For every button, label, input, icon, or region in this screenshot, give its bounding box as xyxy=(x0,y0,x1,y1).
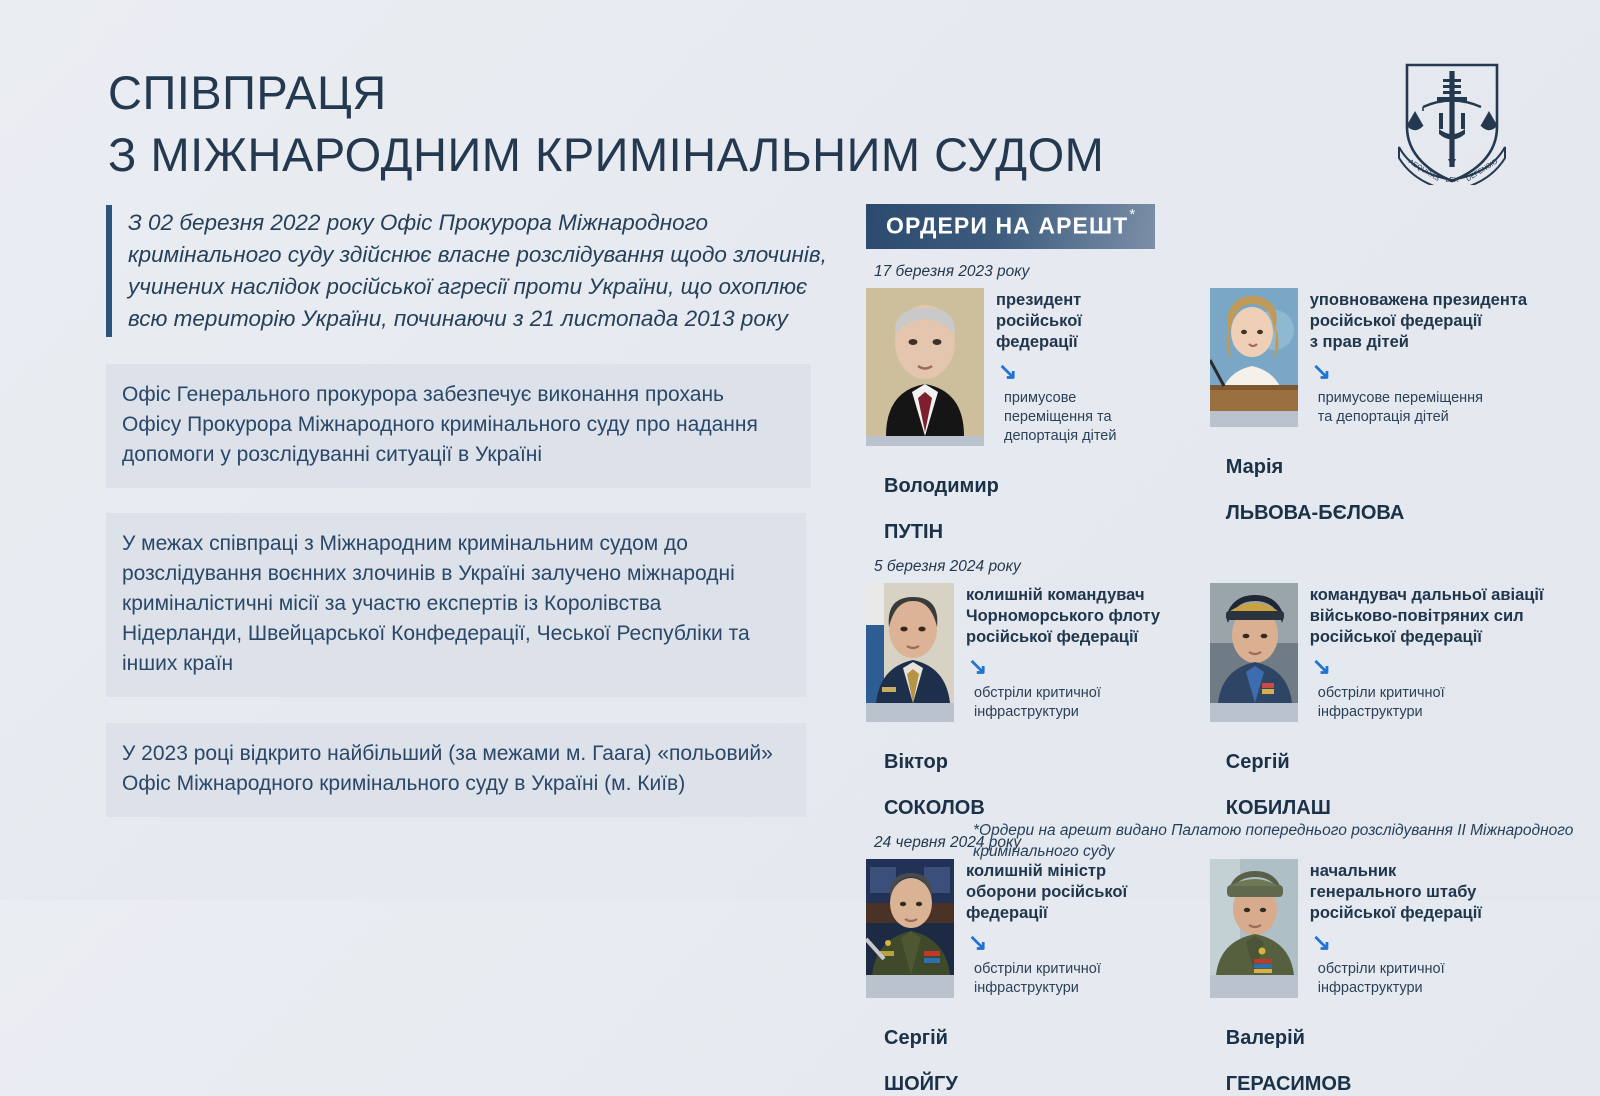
photo-shoigu xyxy=(866,859,954,998)
person-details: начальник генерального штабу російської … xyxy=(1310,859,1566,998)
person-name: Сергій ШОЙГУ xyxy=(884,1004,1184,1096)
person-card: командувач дальньої авіації військово-по… xyxy=(1210,583,1566,722)
arrow-down-right-icon: ↘ xyxy=(968,931,1184,954)
prosecutor-general-emblem-icon: AEQUITAS LEX DEFENSIO xyxy=(1393,55,1511,185)
person-last-name: ШОЙГУ xyxy=(884,1073,958,1095)
person-last-name: СОКОЛОВ xyxy=(884,797,985,819)
person-card: президент російської федерації ↘ примусо… xyxy=(866,288,1184,446)
arrest-warrants-badge: ОРДЕРИ НА АРЕШТ* xyxy=(866,204,1155,249)
badge-asterisk: * xyxy=(1129,206,1136,223)
person-role: командувач дальньої авіації військово-по… xyxy=(1310,585,1566,648)
footnote: *Ордери на арешт видано Палатою попередн… xyxy=(973,820,1593,863)
person-name: Валерій ГЕРАСИМОВ xyxy=(1226,1004,1566,1096)
person-details: колишній командувач Чорноморського флоту… xyxy=(966,583,1184,722)
photo-gerasimov xyxy=(1210,859,1298,998)
info-box-1: Офіс Генерального прокурора забезпечує в… xyxy=(106,364,811,488)
warrant-date-1: 17 березня 2023 року xyxy=(874,263,1566,281)
person-first-name: Сергій xyxy=(884,1027,948,1049)
info-box-2: У межах співпраці з Міжнародним кримінал… xyxy=(106,513,806,697)
person-role: колишній міністр оборони російської феде… xyxy=(966,861,1184,924)
person-charge: примусове переміщення та депортація діте… xyxy=(1318,389,1566,427)
person-details: уповноважена президента російської федер… xyxy=(1310,288,1566,427)
person-first-name: Марія xyxy=(1226,456,1283,478)
person-card: уповноважена президента російської федер… xyxy=(1210,288,1566,427)
slide-root: СПІВПРАЦЯ З МІЖНАРОДНИМ КРИМІНАЛЬНИМ СУД… xyxy=(0,0,1600,900)
arrow-down-right-icon: ↘ xyxy=(1312,655,1566,678)
person-cell-kobylash: командувач дальньої авіації військово-по… xyxy=(1210,583,1566,820)
left-column: З 02 березня 2022 року Офіс Прокурора Мі… xyxy=(106,205,841,817)
person-role: начальник генерального штабу російської … xyxy=(1310,861,1566,924)
person-card: колишній командувач Чорноморського флоту… xyxy=(866,583,1184,722)
person-charge: обстріли критичної інфраструктури xyxy=(974,960,1184,998)
person-cell-putin: президент російської федерації ↘ примусо… xyxy=(866,288,1184,544)
person-charge: примусове переміщення та депортація діте… xyxy=(1004,389,1184,446)
photo-putin xyxy=(866,288,984,446)
person-card: начальник генерального штабу російської … xyxy=(1210,859,1566,998)
intro-paragraph: З 02 березня 2022 року Офіс Прокурора Мі… xyxy=(106,205,841,337)
right-column: ОРДЕРИ НА АРЕШТ* 17 березня 2023 року xyxy=(866,204,1566,1096)
photo-sokolov xyxy=(866,583,954,722)
person-name: Віктор СОКОЛОВ xyxy=(884,728,1184,820)
person-name: Сергій КОБИЛАШ xyxy=(1226,728,1566,820)
warrant-row-1: президент російської федерації ↘ примусо… xyxy=(866,288,1566,544)
arrow-down-right-icon: ↘ xyxy=(1312,360,1566,383)
person-details: президент російської федерації ↘ примусо… xyxy=(996,288,1184,446)
person-cell-gerasimov: начальник генерального штабу російської … xyxy=(1210,859,1566,1096)
warrant-row-3: колишній міністр оборони російської феде… xyxy=(866,859,1566,1096)
person-charge: обстріли критичної інфраструктури xyxy=(1318,960,1566,998)
person-cell-shoigu: колишній міністр оборони російської феде… xyxy=(866,859,1184,1096)
photo-lvova-belova xyxy=(1210,288,1298,427)
person-details: командувач дальньої авіації військово-по… xyxy=(1310,583,1566,722)
person-card: колишній міністр оборони російської феде… xyxy=(866,859,1184,998)
warrant-date-2: 5 березня 2024 року xyxy=(874,558,1566,576)
warrant-row-2: колишній командувач Чорноморського флоту… xyxy=(866,583,1566,820)
person-name: Марія ЛЬВОВА-БЄЛОВА xyxy=(1226,433,1566,525)
person-first-name: Валерій xyxy=(1226,1027,1305,1049)
arrow-down-right-icon: ↘ xyxy=(968,655,1184,678)
person-role: колишній командувач Чорноморського флоту… xyxy=(966,585,1184,648)
person-charge: обстріли критичної інфраструктури xyxy=(1318,684,1566,722)
person-last-name: КОБИЛАШ xyxy=(1226,797,1331,819)
person-cell-lvova-belova: уповноважена президента російської федер… xyxy=(1210,288,1566,544)
arrest-warrants-badge-label: ОРДЕРИ НА АРЕШТ xyxy=(886,213,1128,239)
person-role: уповноважена президента російської федер… xyxy=(1310,290,1566,353)
arrow-down-right-icon: ↘ xyxy=(1312,931,1566,954)
person-role: президент російської федерації xyxy=(996,290,1184,353)
arrow-down-right-icon: ↘ xyxy=(998,360,1184,383)
page-title: СПІВПРАЦЯ З МІЖНАРОДНИМ КРИМІНАЛЬНИМ СУД… xyxy=(108,62,1348,186)
photo-kobylash xyxy=(1210,583,1298,722)
person-last-name: ПУТІН xyxy=(884,521,943,543)
person-first-name: Віктор xyxy=(884,751,948,773)
person-name: Володимир ПУТІН xyxy=(884,452,1184,544)
person-last-name: ЛЬВОВА-БЄЛОВА xyxy=(1226,502,1405,524)
info-box-3: У 2023 році відкрито найбільший (за межа… xyxy=(106,723,806,817)
person-details: колишній міністр оборони російської феде… xyxy=(966,859,1184,998)
person-cell-sokolov: колишній командувач Чорноморського флоту… xyxy=(866,583,1184,820)
person-last-name: ГЕРАСИМОВ xyxy=(1226,1073,1352,1095)
emblem-motto-center: LEX xyxy=(1445,177,1459,184)
person-first-name: Володимир xyxy=(884,475,999,497)
person-first-name: Сергій xyxy=(1226,751,1290,773)
person-charge: обстріли критичної інфраструктури xyxy=(974,684,1184,722)
